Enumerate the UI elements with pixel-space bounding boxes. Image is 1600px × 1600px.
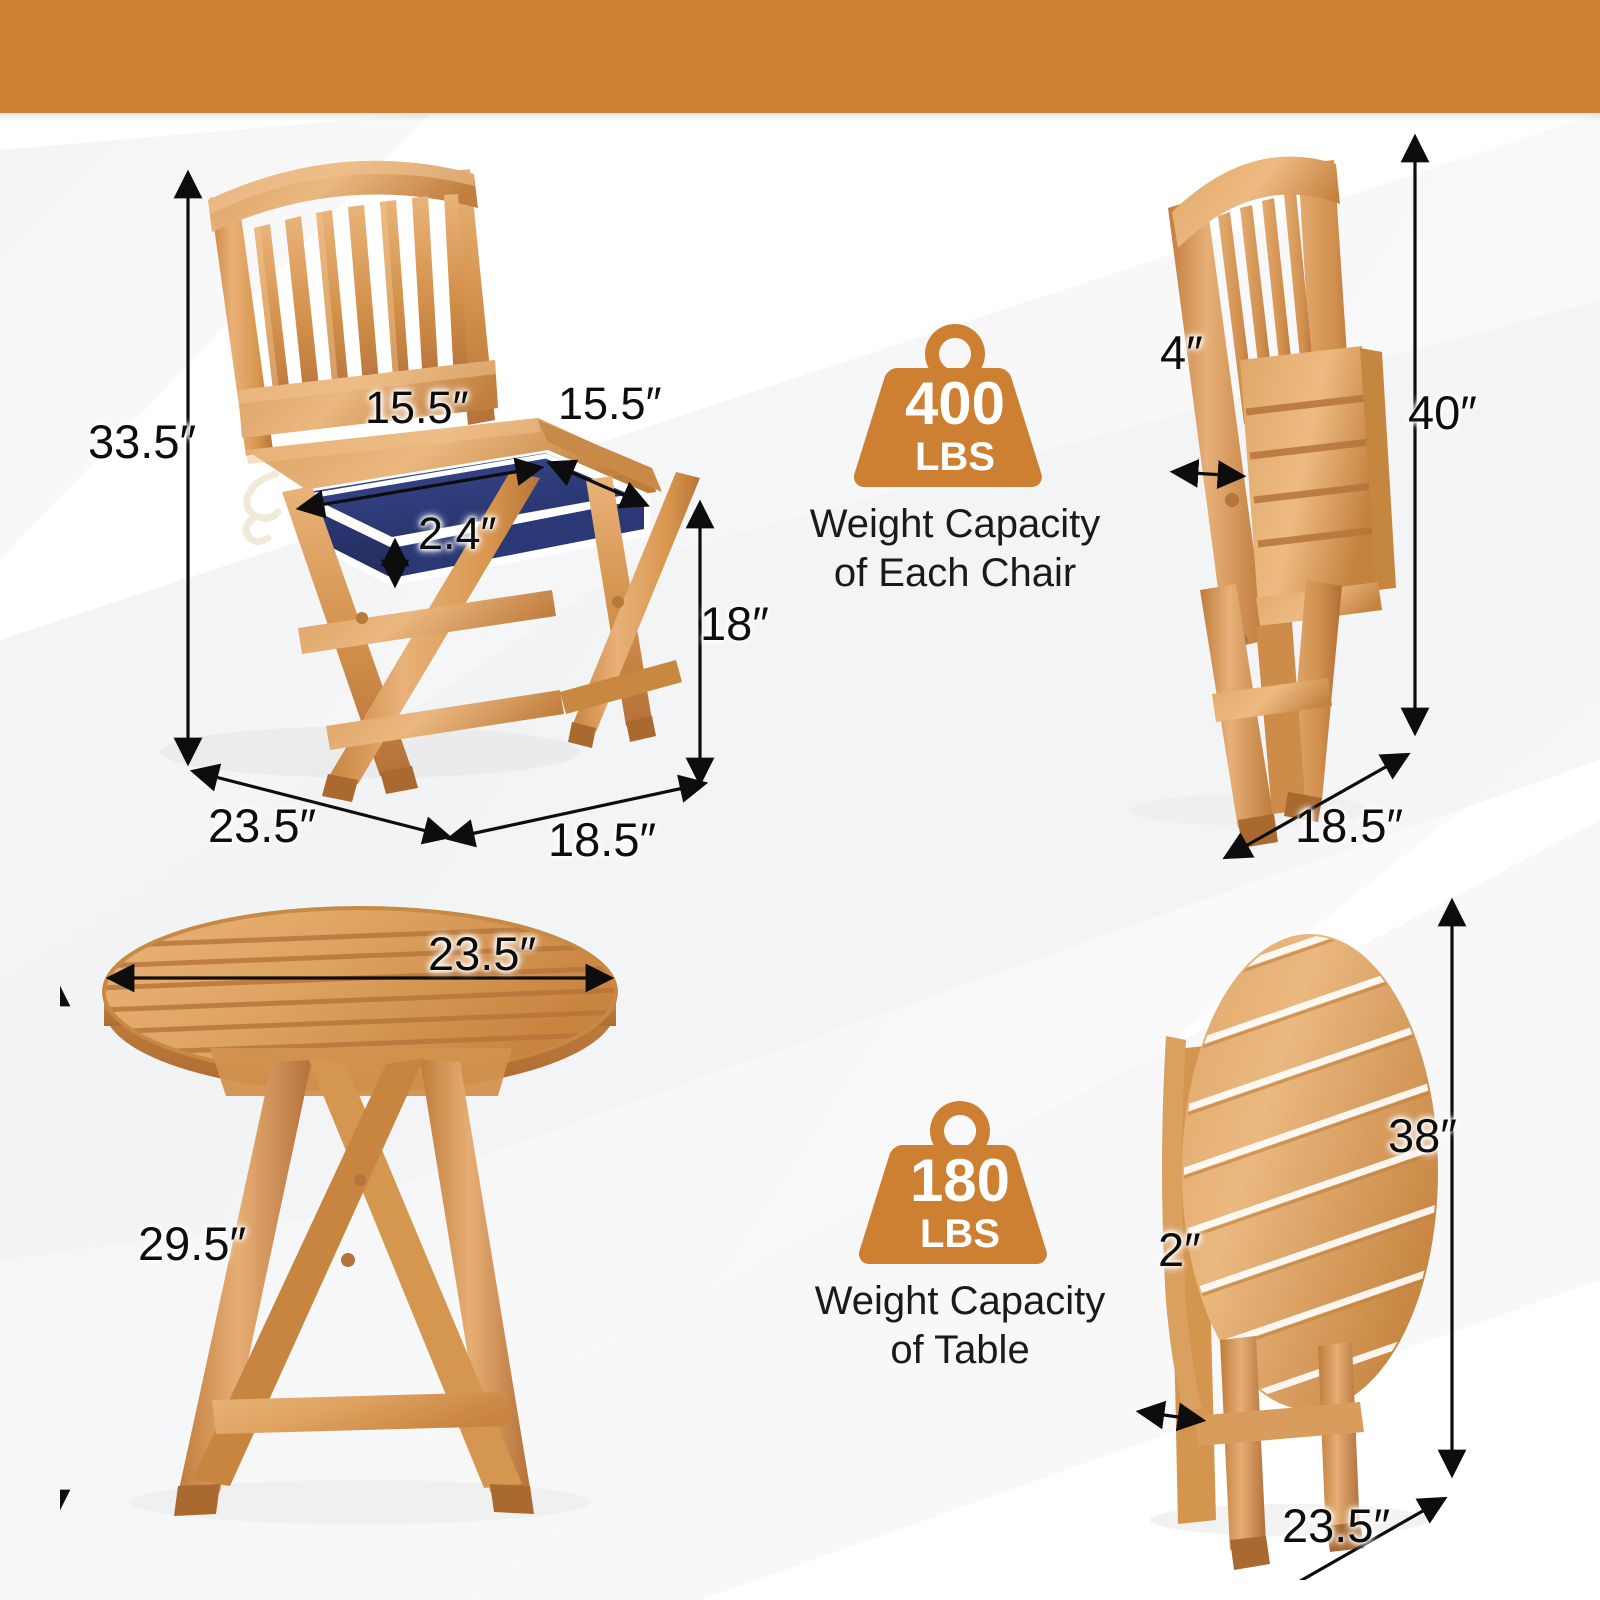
dim-chair-depth: 23.5″ — [208, 798, 316, 853]
dim-folded-table-thickness: 2″ — [1158, 1222, 1201, 1277]
dim-folded-chair-thickness: 4″ — [1160, 325, 1203, 380]
header-shadow — [0, 113, 1600, 121]
badge-table-caption: Weight Capacity of Table — [790, 1277, 1130, 1375]
dim-chair-width: 18.5″ — [548, 812, 656, 867]
badge-table-caption-line2: of Table — [790, 1326, 1130, 1375]
panel-chair-folded — [1060, 120, 1600, 880]
weight-icon: 400 LBS — [836, 318, 1074, 494]
dim-cushion-depth: 15.5″ — [365, 382, 469, 434]
badge-table-unit: LBS — [920, 1212, 1000, 1256]
dim-cushion-thickness: 2.4″ — [418, 508, 497, 560]
panel-chair-open — [40, 120, 800, 880]
dim-cushion-width: 15.5″ — [558, 378, 662, 430]
dim-folded-table-height: 38″ — [1388, 1108, 1457, 1163]
panel-table-folded — [1060, 860, 1600, 1580]
dim-chair-height: 33.5″ — [88, 414, 196, 469]
badge-chair-weight-capacity: 400 LBS Weight Capacity of Each Chair — [785, 318, 1125, 598]
dim-folded-chair-height: 40″ — [1408, 385, 1477, 440]
table-folded-dimension-lines — [1060, 860, 1600, 1580]
weight-icon: 180 LBS — [841, 1095, 1079, 1271]
badge-chair-unit: LBS — [915, 435, 995, 479]
badge-table-weight-capacity: 180 LBS Weight Capacity of Table — [790, 1095, 1130, 1375]
dim-chair-seat-height: 18″ — [700, 596, 769, 651]
dim-table-diameter: 23.5″ — [428, 926, 536, 981]
badge-chair-amount: 400 — [905, 370, 1005, 437]
chair-folded-dimension-lines — [1060, 120, 1600, 880]
badge-chair-caption-line2: of Each Chair — [785, 549, 1125, 598]
chair-open-dimension-lines — [40, 120, 800, 880]
dim-table-height: 29.5″ — [138, 1216, 246, 1271]
badge-table-amount: 180 — [910, 1147, 1010, 1214]
dim-folded-table-width: 23.5″ — [1282, 1498, 1390, 1553]
header-banner — [0, 0, 1600, 113]
badge-chair-caption-line1: Weight Capacity — [785, 500, 1125, 549]
dim-folded-chair-width: 18.5″ — [1295, 798, 1403, 853]
badge-chair-caption: Weight Capacity of Each Chair — [785, 500, 1125, 598]
badge-table-caption-line1: Weight Capacity — [790, 1277, 1130, 1326]
